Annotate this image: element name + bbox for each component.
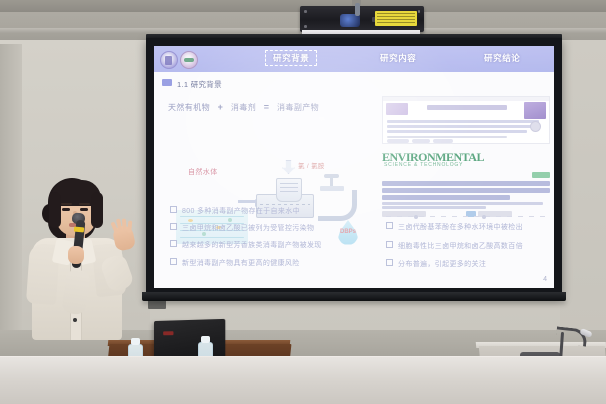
water-treatment-plant-diagram: 自然水体 氯 / 氯胺 DBPs xyxy=(168,116,388,182)
checkbox-icon xyxy=(170,206,177,213)
checkbox-icon xyxy=(386,222,393,229)
reaction-equation: 天然有机物 + 消毒剂 = 消毒副产物 xyxy=(168,102,383,113)
right-wall xyxy=(560,40,606,340)
eye-left xyxy=(62,208,70,211)
list-item: 三卤甲烷和卤乙酸已被列为受管控污染物 xyxy=(170,223,380,233)
bullet-text: 新型消毒副产物具有更高的健康风险 xyxy=(182,260,300,267)
slide-page-number: 4 xyxy=(543,276,547,283)
est-article-screenshot xyxy=(382,174,550,214)
ceiling-projector xyxy=(300,6,424,32)
bullet-text: 越来越多的新型芳香族类消毒副产物被发现 xyxy=(182,242,322,249)
bullet-text: 三卤代酚基苯酚在多种水环境中被检出 xyxy=(398,224,523,231)
list-item: 新型消毒副产物具有更高的健康风险 xyxy=(170,258,380,268)
eye-right xyxy=(80,208,88,211)
institute-seal-logo xyxy=(180,51,198,69)
equation-equals-icon: = xyxy=(259,102,275,112)
projector-knob xyxy=(355,3,360,16)
university-seal-logo xyxy=(160,51,178,69)
water-research-article-screenshot xyxy=(382,96,550,144)
hair-side-right xyxy=(91,192,103,228)
checkbox-icon xyxy=(386,259,393,266)
equation-plus-icon: + xyxy=(213,102,229,112)
checkbox-icon xyxy=(170,223,177,230)
presenter xyxy=(18,178,134,340)
checkbox-icon xyxy=(386,241,393,248)
tab-research-conclusion[interactable]: 研究结论 xyxy=(484,52,520,64)
bottle-cap xyxy=(201,336,210,343)
equation-term-dbp: 消毒副产物 xyxy=(277,103,319,112)
wall-vent xyxy=(148,300,166,309)
checkbox-icon xyxy=(170,240,177,247)
list-item: 800 多种消毒副产物存在于自来水中 xyxy=(170,206,380,216)
bullet-text: 分布普遍，引起更多的关注 xyxy=(398,261,486,268)
presentation-slide: 研究背景 研究内容 研究结论 1.1 研究背景 天然有机物 + 消毒剂 = 消毒… xyxy=(154,46,554,288)
left-bullet-list: 800 多种消毒副产物存在于自来水中 三卤甲烷和卤乙酸已被列为受管控污染物 越来… xyxy=(170,206,380,275)
natural-water-label: 自然水体 xyxy=(188,167,218,177)
bottle-cap xyxy=(131,338,140,345)
slide-header: 研究背景 研究内容 研究结论 xyxy=(154,46,554,72)
section-title: 1.1 研究背景 xyxy=(162,79,222,90)
list-item: 越来越多的新型芳香族类消毒副产物被发现 xyxy=(170,240,380,250)
projector-warning-label xyxy=(375,11,417,26)
equation-term-disinfectant: 消毒剂 xyxy=(231,103,256,112)
bullet-square-icon xyxy=(162,79,172,86)
tab-research-content[interactable]: 研究内容 xyxy=(380,52,416,64)
section-divider xyxy=(386,216,546,217)
disinfectant-dose-label: 氯 / 氯胺 xyxy=(298,160,325,170)
microphone-band xyxy=(74,226,84,232)
est-logo-sub: SCIENCE & TECHNOLOGY xyxy=(384,162,463,168)
equation-term-nom: 天然有机物 xyxy=(168,103,210,112)
checkbox-icon xyxy=(170,258,177,265)
hair-side-left xyxy=(49,192,61,228)
bullet-text: 三卤甲烷和卤乙酸已被列为受管控污染物 xyxy=(182,225,314,232)
open-access-badge xyxy=(532,172,550,178)
clarifier-unit xyxy=(276,178,302,202)
bullet-text: 细胞毒性比三卤甲烷和卤乙酸高数百倍 xyxy=(398,243,523,250)
dosing-arrow-icon xyxy=(282,160,295,174)
journal-name-bar xyxy=(427,105,507,110)
lecture-room-photo: 研究背景 研究内容 研究结论 1.1 研究背景 天然有机物 + 消毒剂 = 消毒… xyxy=(0,0,606,404)
cardigan-button xyxy=(73,318,77,322)
journal-cover-thumbnail xyxy=(524,102,546,119)
elsevier-logo xyxy=(386,103,408,115)
est-journal-logo: ENVIRONMENTAL SCIENCE & TECHNOLOGY xyxy=(382,150,494,169)
list-item: 分布普遍，引起更多的关注 xyxy=(386,259,551,269)
laptop-logo xyxy=(163,331,173,335)
flow-arrow-icon xyxy=(238,200,255,203)
screen-shadow xyxy=(142,300,566,304)
access-icon xyxy=(530,121,541,132)
section-title-text: 1.1 研究背景 xyxy=(177,80,222,89)
list-item: 三卤代酚基苯酚在多种水环境中被检出 xyxy=(386,222,551,232)
hand-holding-microphone xyxy=(68,246,84,264)
foreground-table xyxy=(0,358,606,404)
bullet-text: 800 多种消毒副产物存在于自来水中 xyxy=(182,208,300,215)
right-bullet-list: 三卤代酚基苯酚在多种水环境中被检出 细胞毒性比三卤甲烷和卤乙酸高数百倍 分布普遍… xyxy=(386,222,551,278)
list-item: 细胞毒性比三卤甲烷和卤乙酸高数百倍 xyxy=(386,241,551,251)
tab-research-background[interactable]: 研究背景 xyxy=(265,50,317,66)
